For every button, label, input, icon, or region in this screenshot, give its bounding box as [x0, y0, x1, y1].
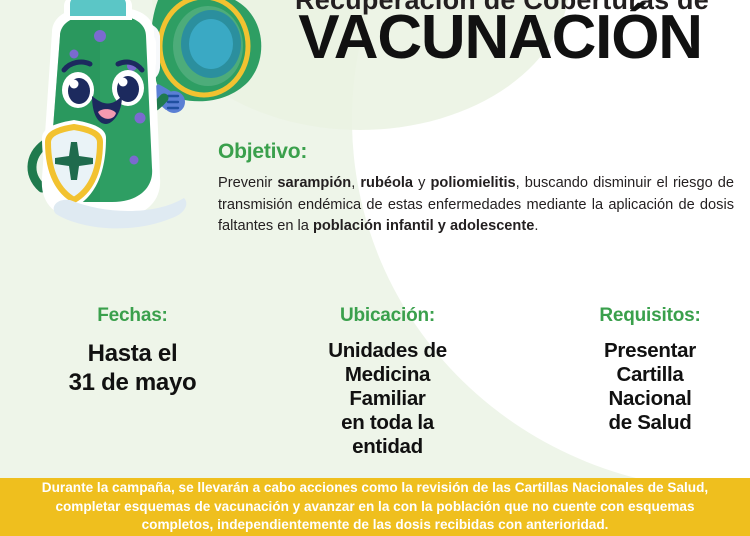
fechas-value: Hasta el31 de mayo [20, 339, 245, 397]
vaccination-campaign-poster: Recuperación de Coberturas de VACUNACIÓN… [0, 0, 750, 536]
requisitos-heading: Requisitos: [555, 305, 745, 327]
ubicacion-value: Unidades deMedicinaFamiliaren toda laent… [285, 339, 490, 459]
fechas-heading: Fechas: [20, 305, 245, 327]
footer-banner: Durante la campaña, se llevarán a cabo a… [0, 478, 750, 536]
objective-bold-poliomielitis: poliomielitis [430, 175, 515, 191]
objective-text-2: , [351, 175, 360, 191]
objective-bold-sarampion: sarampión [277, 175, 351, 191]
footer-text: Durante la campaña, se llevarán a cabo a… [20, 479, 730, 535]
info-column-fechas: Fechas: Hasta el31 de mayo [20, 305, 245, 397]
poster-title: VACUNACIÓN [250, 6, 750, 70]
ubicacion-heading: Ubicación: [285, 305, 490, 327]
objective-text-5: . [534, 218, 538, 234]
objective-bold-poblacion: población infantil y adolescente [313, 218, 534, 234]
objective-block: Objetivo: Prevenir sarampión, rubéola y … [218, 140, 734, 238]
objective-heading: Objetivo: [218, 140, 734, 164]
requisitos-value: PresentarCartillaNacionalde Salud [555, 339, 745, 435]
objective-text-3: y [413, 175, 430, 191]
objective-text: Prevenir sarampión, rubéola y poliomieli… [218, 173, 734, 238]
info-column-ubicacion: Ubicación: Unidades deMedicinaFamiliaren… [285, 305, 490, 459]
objective-text-1: Prevenir [218, 175, 277, 191]
objective-bold-rubeola: rubéola [360, 175, 413, 191]
info-column-requisitos: Requisitos: PresentarCartillaNacionalde … [555, 305, 745, 435]
